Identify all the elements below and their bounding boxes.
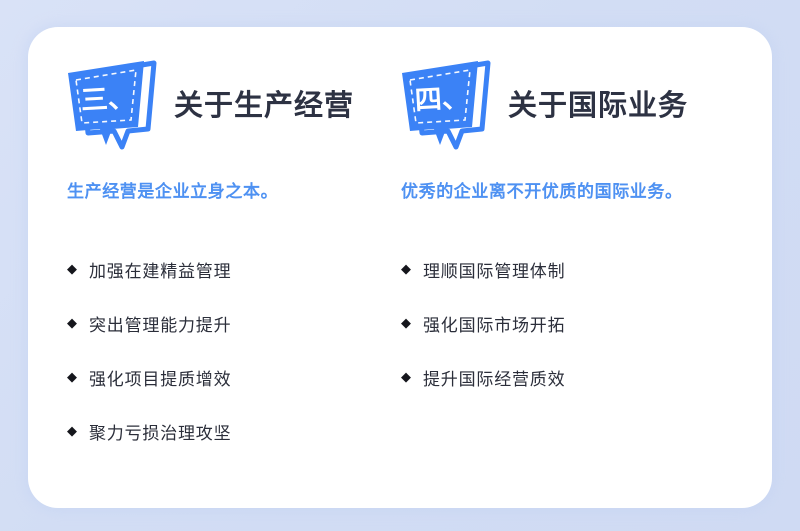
- section-title: 关于生产经营: [174, 82, 354, 124]
- diamond-bullet-icon: ◆: [67, 317, 89, 330]
- list-item: ◆ 强化国际市场开拓: [401, 296, 565, 350]
- speech-bubble-tag-icon: 三、: [62, 55, 158, 151]
- diamond-bullet-icon: ◆: [67, 263, 89, 276]
- list-item: ◆ 强化项目提质增效: [67, 350, 231, 404]
- list-item-label: 强化国际市场开拓: [423, 311, 565, 336]
- diamond-bullet-icon: ◆: [401, 317, 423, 330]
- list-item-label: 提升国际经营质效: [423, 365, 565, 390]
- speech-bubble-tag-icon: 四、: [396, 55, 492, 151]
- bullet-list: ◆ 理顺国际管理体制 ◆ 强化国际市场开拓 ◆ 提升国际经营质效: [401, 242, 565, 404]
- diamond-bullet-icon: ◆: [401, 263, 423, 276]
- list-item: ◆ 突出管理能力提升: [67, 296, 231, 350]
- list-item: ◆ 理顺国际管理体制: [401, 242, 565, 296]
- section-subtitle: 优秀的企业离不开优质的国际业务。: [401, 177, 683, 202]
- slide-canvas: 三、 关于生产经营 生产经营是企业立身之本。 ◆ 加强在建精益管理 ◆ 突出管理…: [0, 0, 800, 531]
- section-subtitle: 生产经营是企业立身之本。: [67, 177, 278, 202]
- list-item-label: 加强在建精益管理: [89, 257, 231, 282]
- badge-number-label: 三、: [59, 52, 160, 153]
- diamond-bullet-icon: ◆: [67, 425, 89, 438]
- list-item-label: 强化项目提质增效: [89, 365, 231, 390]
- list-item: ◆ 加强在建精益管理: [67, 242, 231, 296]
- list-item-label: 突出管理能力提升: [89, 311, 231, 336]
- bullet-list: ◆ 加强在建精益管理 ◆ 突出管理能力提升 ◆ 强化项目提质增效 ◆ 聚力亏损治…: [67, 242, 231, 458]
- badge-number-label: 四、: [393, 52, 494, 153]
- section-header-international: 四、 关于国际业务: [396, 55, 688, 151]
- list-item-label: 理顺国际管理体制: [423, 257, 565, 282]
- diamond-bullet-icon: ◆: [401, 371, 423, 384]
- list-item: ◆ 聚力亏损治理攻坚: [67, 404, 231, 458]
- list-item: ◆ 提升国际经营质效: [401, 350, 565, 404]
- diamond-bullet-icon: ◆: [67, 371, 89, 384]
- section-title: 关于国际业务: [508, 82, 688, 124]
- list-item-label: 聚力亏损治理攻坚: [89, 419, 231, 444]
- content-card: 三、 关于生产经营 生产经营是企业立身之本。 ◆ 加强在建精益管理 ◆ 突出管理…: [28, 27, 772, 508]
- section-header-production: 三、 关于生产经营: [62, 55, 354, 151]
